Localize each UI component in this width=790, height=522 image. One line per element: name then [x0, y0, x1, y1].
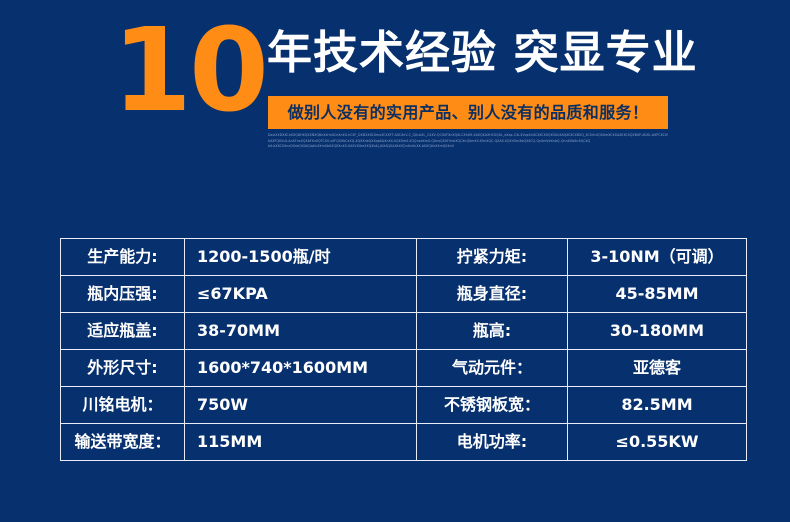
spec-value: 1200-1500瓶/时 [185, 239, 417, 276]
spec-value: ≤0.55KW [568, 424, 747, 461]
micro-text-line: bX-bXXCVXnxQXnbQXXAQqXnXXmXbXXQXXnXX-XAX… [268, 144, 568, 150]
spec-label: 气动元件： [417, 350, 568, 387]
table-row: 川铭电机： 750W 不锈钢板宽： 82.5MM [61, 387, 747, 424]
table-row: 瓶内压强: ≤67KPA 瓶身直径: 45-85MM [61, 276, 747, 313]
years-number: 10 [112, 14, 266, 129]
spec-value: 45-85MM [568, 276, 747, 313]
spec-label: 拧紧力矩: [417, 239, 568, 276]
spec-label: 川铭电机： [61, 387, 185, 424]
spec-value: 30-180MM [568, 313, 747, 350]
table-row: 生产能力: 1200-1500瓶/时 拧紧力矩: 3-10NM（可调） [61, 239, 747, 276]
spec-label: 电机功率: [417, 424, 568, 461]
decorative-micro-text: DxxlXXDXXCnXXQDHXQXXNXQBnXxHnXCnXnXX-hCX… [268, 133, 668, 150]
spec-label: 输送带宽度： [61, 424, 185, 461]
spec-label: 适应瓶盖: [61, 313, 185, 350]
spec-value: 亚德客 [568, 350, 747, 387]
spec-value: 750W [185, 387, 417, 424]
headline-text: 年技术经验 突显专业 [267, 26, 698, 81]
promo-banner-page: 10 年技术经验 突显专业 做别人没有的实用产品、别人没有的品质和服务！ Dxx… [0, 0, 790, 522]
subtitle-text: 做别人没有的实用产品、别人没有的品质和服务！ [288, 105, 649, 121]
spec-label: 瓶高: [417, 313, 568, 350]
spec-label: 生产能力: [61, 239, 185, 276]
spec-value: ≤67KPA [185, 276, 417, 313]
specification-table: 生产能力: 1200-1500瓶/时 拧紧力矩: 3-10NM（可调） 瓶内压强… [60, 238, 747, 461]
spec-value: 38-70MM [185, 313, 417, 350]
spec-label: 不锈钢板宽： [417, 387, 568, 424]
spec-label: 瓶内压强: [61, 276, 185, 313]
table-row: 外形尺寸: 1600*740*1600MM 气动元件： 亚德客 [61, 350, 747, 387]
spec-value: 115MM [185, 424, 417, 461]
table-row: 输送带宽度： 115MM 电机功率: ≤0.55KW [61, 424, 747, 461]
spec-value: 82.5MM [568, 387, 747, 424]
header-banner: 10 年技术经验 突显专业 做别人没有的实用产品、别人没有的品质和服务！ Dxx… [0, 0, 790, 170]
spec-label: 外形尺寸: [61, 350, 185, 387]
subtitle-highlight-bar: 做别人没有的实用产品、别人没有的品质和服务！ [268, 96, 668, 129]
spec-label: 瓶身直径: [417, 276, 568, 313]
spec-value: 1600*740*1600MM [185, 350, 417, 387]
spec-value: 3-10NM（可调） [568, 239, 747, 276]
micro-text-line: DxxlXXDXXCnXXQDHXQXXNXQBnXxHnXCnXnXX-hCX… [268, 133, 668, 139]
table-row: 适应瓶盖: 38-70MM 瓶高: 30-180MM [61, 313, 747, 350]
